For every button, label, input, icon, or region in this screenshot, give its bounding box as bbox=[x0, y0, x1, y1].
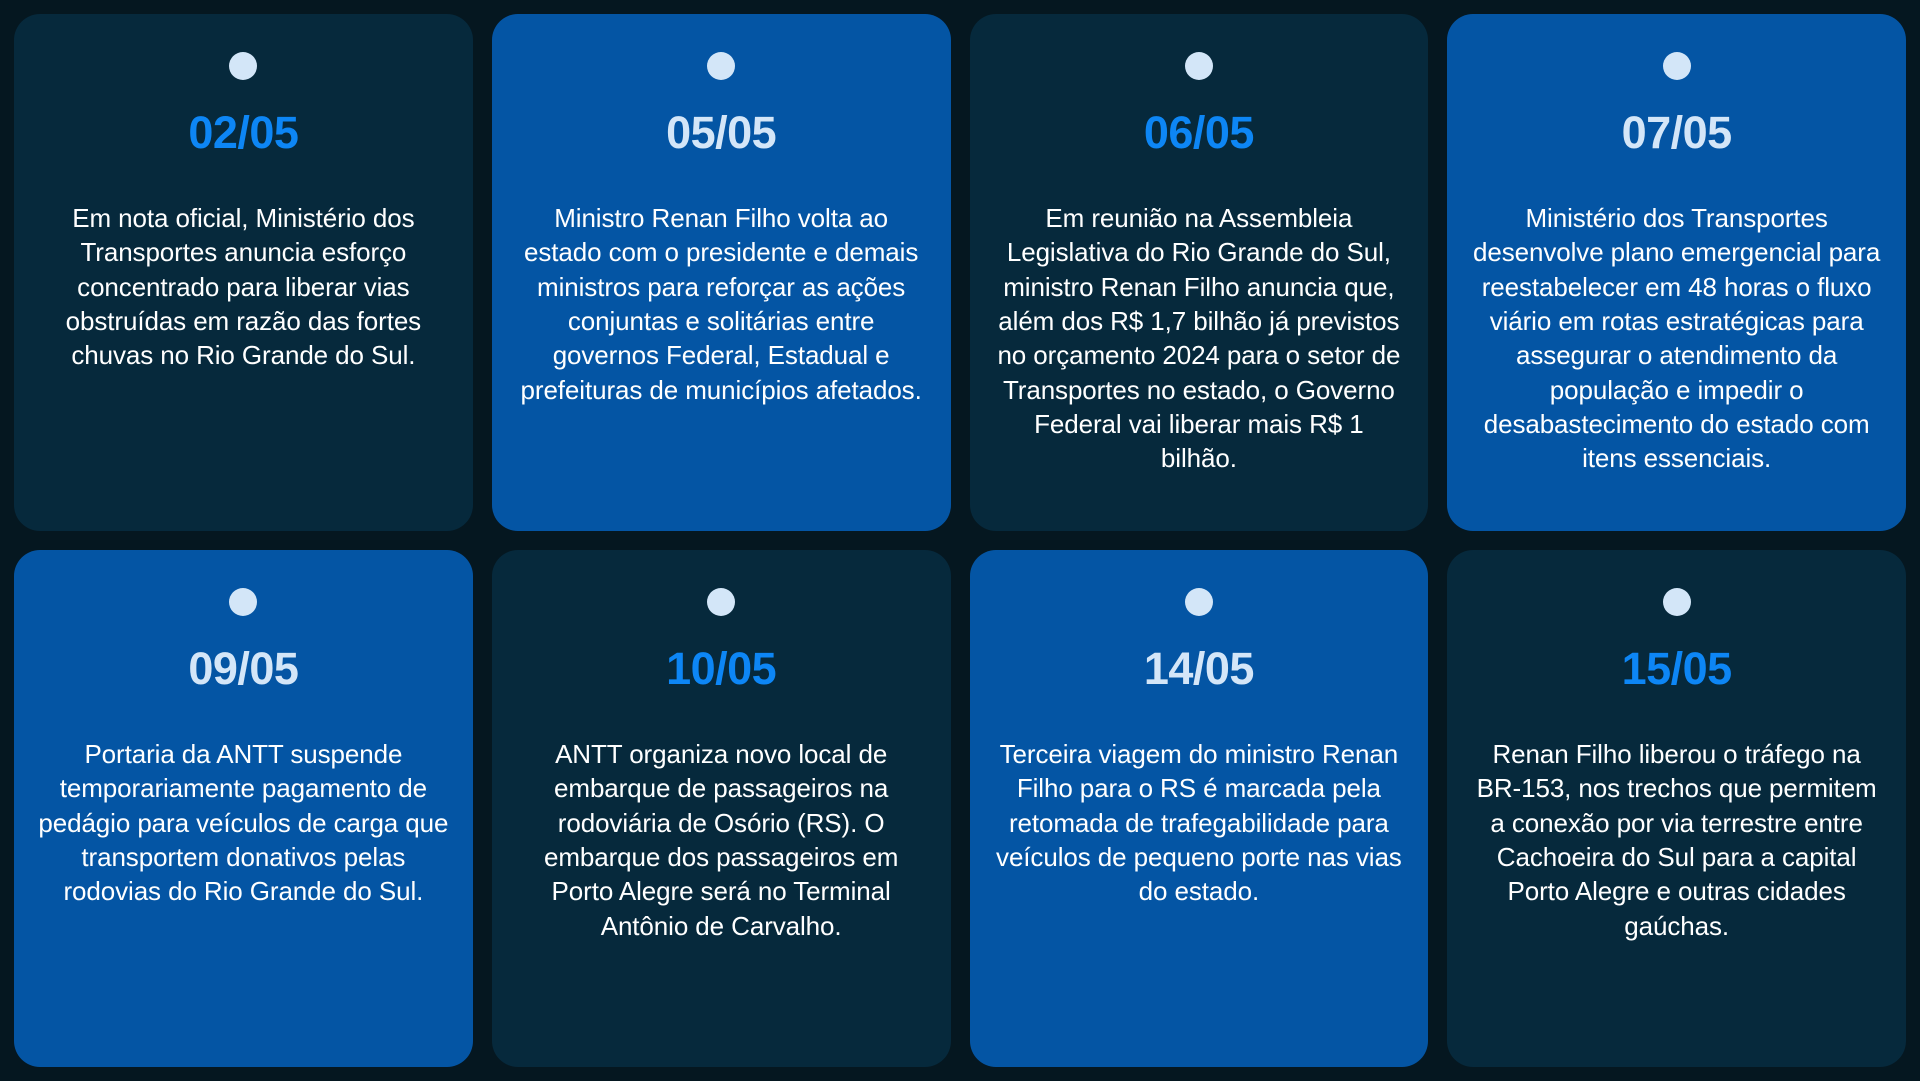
timeline-card-date: 06/05 bbox=[1144, 110, 1254, 155]
timeline-card-07-05: 07/05Ministério dos Transportes desenvol… bbox=[1447, 14, 1906, 531]
timeline-card-02-05: 02/05Em nota oficial, Ministério dos Tra… bbox=[14, 14, 473, 531]
timeline-card-10-05: 10/05ANTT organiza novo local de embarqu… bbox=[492, 550, 951, 1067]
timeline-card-text: ANTT organiza novo local de embarque de … bbox=[516, 737, 927, 943]
timeline-dot-icon bbox=[1185, 52, 1213, 80]
timeline-card-text: Em reunião na Assembleia Legislativa do … bbox=[994, 201, 1405, 476]
timeline-card-date: 02/05 bbox=[188, 110, 298, 155]
timeline-card-06-05: 06/05Em reunião na Assembleia Legislativ… bbox=[970, 14, 1429, 531]
timeline-card-14-05: 14/05Terceira viagem do ministro Renan F… bbox=[970, 550, 1429, 1067]
timeline-dot-icon bbox=[229, 588, 257, 616]
timeline-card-text: Renan Filho liberou o tráfego na BR-153,… bbox=[1471, 737, 1882, 943]
timeline-dot-icon bbox=[1663, 588, 1691, 616]
timeline-dot-icon bbox=[1663, 52, 1691, 80]
timeline-card-05-05: 05/05Ministro Renan Filho volta ao estad… bbox=[492, 14, 951, 531]
timeline-card-date: 10/05 bbox=[666, 646, 776, 691]
timeline-card-text: Ministro Renan Filho volta ao estado com… bbox=[516, 201, 927, 407]
timeline-dot-icon bbox=[1185, 588, 1213, 616]
timeline-dot-icon bbox=[707, 52, 735, 80]
timeline-card-date: 05/05 bbox=[666, 110, 776, 155]
timeline-card-text: Terceira viagem do ministro Renan Filho … bbox=[994, 737, 1405, 909]
timeline-dot-icon bbox=[707, 588, 735, 616]
timeline-card-text: Em nota oficial, Ministério dos Transpor… bbox=[38, 201, 449, 373]
timeline-card-date: 15/05 bbox=[1622, 646, 1732, 691]
timeline-card-text: Portaria da ANTT suspende temporariament… bbox=[38, 737, 449, 909]
timeline-grid: 02/05Em nota oficial, Ministério dos Tra… bbox=[0, 0, 1920, 1081]
timeline-dot-icon bbox=[229, 52, 257, 80]
timeline-card-date: 14/05 bbox=[1144, 646, 1254, 691]
timeline-card-date: 09/05 bbox=[188, 646, 298, 691]
timeline-card-date: 07/05 bbox=[1622, 110, 1732, 155]
timeline-card-text: Ministério dos Transportes desenvolve pl… bbox=[1471, 201, 1882, 476]
timeline-card-09-05: 09/05Portaria da ANTT suspende temporari… bbox=[14, 550, 473, 1067]
timeline-card-15-05: 15/05Renan Filho liberou o tráfego na BR… bbox=[1447, 550, 1906, 1067]
